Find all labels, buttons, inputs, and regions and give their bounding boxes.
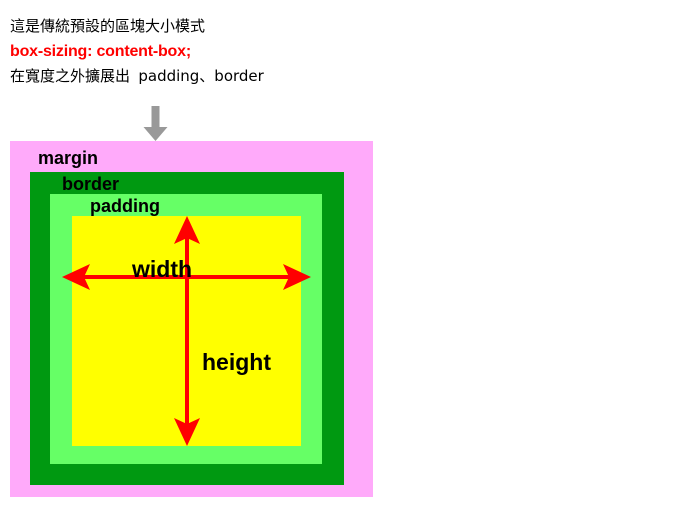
down-arrow-icon [143, 106, 168, 142]
content-box-diagram: margin border padding width height [10, 141, 373, 497]
caption-line-1: 這是傳統預設的區塊大小模式 [10, 14, 264, 39]
border-box-panel: 這是CSS3新的區塊大小模式 box-sizing: border-box; 在… [400, 0, 700, 514]
margin-label: margin [38, 148, 98, 168]
padding-label: padding [90, 196, 160, 216]
caption-line-3-terms: padding、border [138, 67, 263, 85]
content-layer [72, 216, 301, 446]
width-label: width [132, 257, 192, 282]
content-box-caption: 這是傳統預設的區塊大小模式 box-sizing: content-box; 在… [10, 14, 264, 89]
height-label: height [202, 350, 271, 375]
caption-line-3-prefix: 在寬度之外擴展出 [10, 68, 130, 85]
caption-code-declaration: box-sizing: content-box; [10, 39, 264, 64]
content-box-panel: 這是傳統預設的區塊大小模式 box-sizing: content-box; 在… [0, 0, 400, 514]
border-label: border [62, 174, 119, 194]
caption-line-3: 在寬度之外擴展出 padding、border [10, 64, 264, 89]
